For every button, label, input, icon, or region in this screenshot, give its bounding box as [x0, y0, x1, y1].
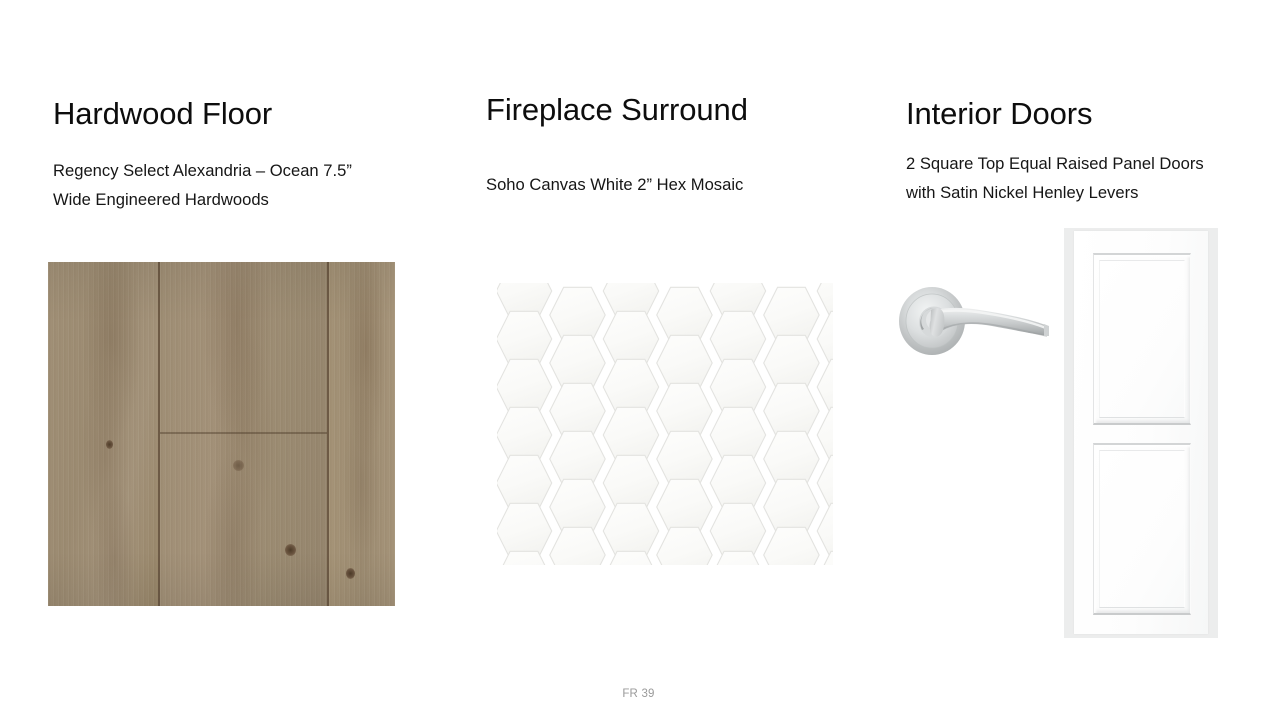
- hex-mosaic-graphic: [497, 283, 833, 565]
- caption-interior-doors: 2 Square Top Equal Raised Panel Doors wi…: [906, 149, 1206, 207]
- caption-fireplace-surround: Soho Canvas White 2” Hex Mosaic: [486, 170, 846, 199]
- hex-mosaic-swatch: [497, 283, 833, 565]
- column-fireplace-surround: Fireplace Surround Soho Canvas White 2” …: [486, 92, 886, 199]
- column-hardwood-floor: Hardwood Floor Regency Select Alexandria…: [53, 96, 453, 214]
- two-panel-raised-door: [1064, 228, 1218, 638]
- heading-interior-doors: Interior Doors: [906, 96, 1216, 132]
- caption-hardwood-floor: Regency Select Alexandria – Ocean 7.5” W…: [53, 156, 353, 214]
- lever-graphic: [896, 274, 1056, 366]
- heading-fireplace-surround: Fireplace Surround: [486, 92, 886, 128]
- satin-nickel-henley-lever: [896, 274, 1056, 366]
- slide-canvas: Hardwood Floor Regency Select Alexandria…: [0, 0, 1277, 712]
- heading-hardwood-floor: Hardwood Floor: [53, 96, 453, 132]
- wood-swatch-shading: [48, 262, 395, 606]
- door-slab: [1074, 231, 1208, 634]
- hardwood-floor-swatch: [48, 262, 395, 606]
- door-panel-lower: [1093, 443, 1191, 615]
- footer-page-label: FR 39: [0, 688, 1277, 700]
- door-panel-upper: [1093, 253, 1191, 425]
- column-interior-doors: Interior Doors 2 Square Top Equal Raised…: [906, 96, 1216, 207]
